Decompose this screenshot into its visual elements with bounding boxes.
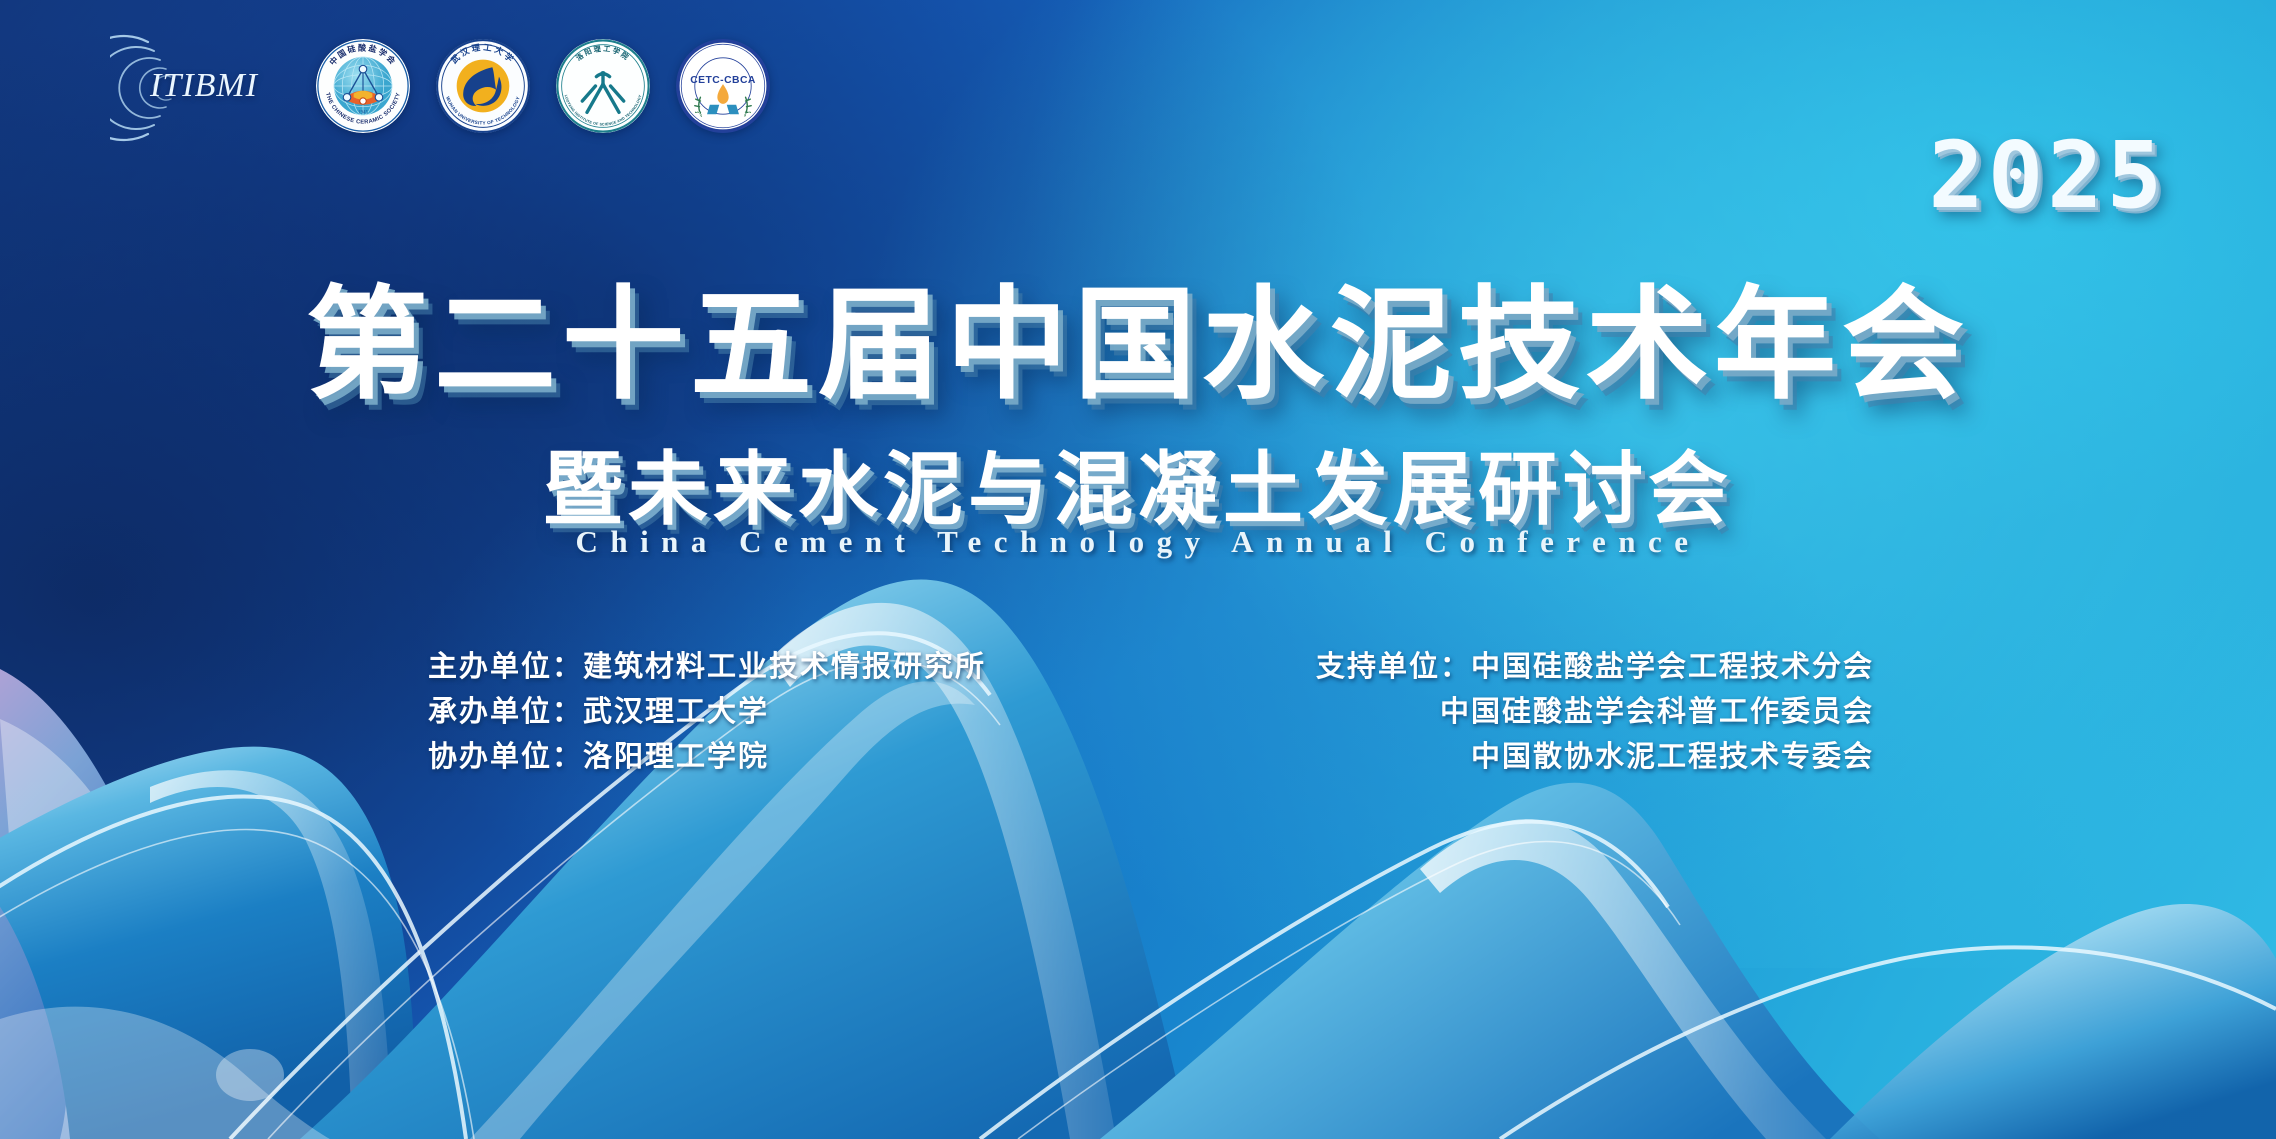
wut-seal-icon: 武汉理工大学 WUHAN UNIVERSITY OF TECHNOLOGY: [436, 39, 530, 133]
organizer-line: 支持单位：中国硅酸盐学会工程技术分会: [1316, 645, 1874, 690]
wave-layer-far-right: [1830, 904, 2276, 1139]
cbca-acronym-text: CETC-CBCA: [690, 75, 756, 86]
organizer-line: 主办单位：建筑材料工业技术情报研究所: [428, 645, 986, 690]
itibmi-wordmark: ITIBMI: [150, 67, 258, 105]
organizer-line: 协办单位：洛阳理工学院: [428, 735, 986, 780]
cetc-cbca-logo: CETC-CBCA 中国散装水泥推广发展协会水泥工程技术专业委员会 CEMENT…: [676, 39, 770, 133]
svg-text:1945: 1945: [358, 109, 369, 115]
decorative-wave-graphic: [0, 519, 2276, 1139]
page-title-english: China Cement Technology Annual Conferenc…: [575, 524, 1700, 560]
organizer-line: 中国硅酸盐学会科普工作委员会: [1316, 690, 1874, 735]
year-label: 2025: [1928, 122, 2166, 229]
itibmi-logo: ITIBMI: [118, 38, 290, 134]
organizer-line: 中国散协水泥工程技术专委会: [1316, 735, 1874, 780]
organizer-list-left: 主办单位：建筑材料工业技术情报研究所 承办单位：武汉理工大学 协办单位：洛阳理工…: [428, 645, 986, 780]
list-seal-icon: 洛阳理工学院 LUOYANG INSTITUTE OF SCIENCE AND …: [556, 39, 650, 133]
sponsor-logo-row: ITIBMI: [118, 38, 770, 134]
conference-banner: ITIBMI: [0, 0, 2276, 1139]
chinese-ceramic-society-logo: 1945 中国硅酸盐学会 THE CHINESE CERAMIC SOCIETY: [316, 39, 410, 133]
organizer-list-right: 支持单位：中国硅酸盐学会工程技术分会 中国硅酸盐学会科普工作委员会 中国散协水泥…: [1316, 645, 1874, 780]
organizer-line: 承办单位：武汉理工大学: [428, 690, 986, 735]
wave-curl-detail: [216, 1049, 284, 1101]
cetc-cbca-seal-icon: CETC-CBCA 中国散装水泥推广发展协会水泥工程技术专业委员会 CEMENT…: [676, 39, 770, 133]
page-title: 第二十五届中国水泥技术年会: [306, 246, 1970, 423]
wuhan-university-of-technology-logo: 武汉理工大学 WUHAN UNIVERSITY OF TECHNOLOGY: [436, 39, 530, 133]
ceramic-society-seal-icon: 1945 中国硅酸盐学会 THE CHINESE CERAMIC SOCIETY: [316, 39, 410, 133]
luoyang-institute-of-science-and-technology-logo: 洛阳理工学院 LUOYANG INSTITUTE OF SCIENCE AND …: [556, 39, 650, 133]
